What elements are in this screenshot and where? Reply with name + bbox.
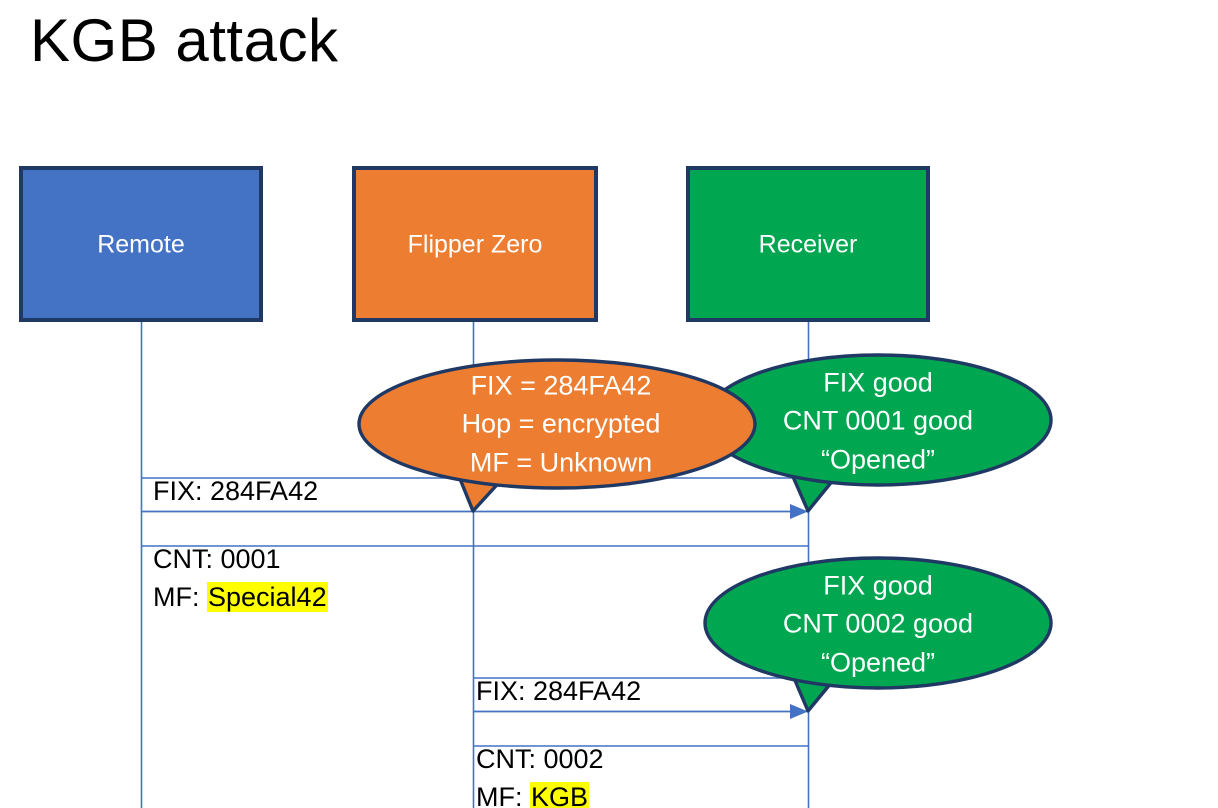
message-1-fix-line: FIX: 284FA42 bbox=[153, 472, 318, 510]
receiver-callout-1-line-2: CNT 0001 good bbox=[783, 402, 973, 440]
actor-label-flipper: Flipper Zero bbox=[408, 231, 543, 260]
receiver-callout-2-line-3: “Opened” bbox=[783, 643, 973, 681]
receiver-callout-2-line-2: CNT 0002 good bbox=[783, 605, 973, 643]
flipper-callout-line-2: Hop = encrypted bbox=[462, 405, 661, 443]
receiver-callout-2-text: FIX good CNT 0002 good “Opened” bbox=[783, 567, 973, 682]
message-1-details: CNT: 0001 MF: Special42 bbox=[153, 540, 328, 617]
receiver-callout-1-line-1: FIX good bbox=[783, 364, 973, 402]
flipper-callout-text: FIX = 284FA42 Hop = encrypted MF = Unkno… bbox=[462, 367, 661, 482]
receiver-callout-1-line-3: “Opened” bbox=[783, 440, 973, 478]
receiver-callout-1-text: FIX good CNT 0001 good “Opened” bbox=[783, 364, 973, 479]
flipper-callout-line-1: FIX = 284FA42 bbox=[462, 367, 661, 405]
message-2-mf-prefix: MF: bbox=[476, 782, 530, 808]
flipper-callout-line-3: MF = Unknown bbox=[462, 443, 661, 481]
receiver-callout-2-line-1: FIX good bbox=[783, 567, 973, 605]
message-1-mf-prefix: MF: bbox=[153, 582, 207, 612]
message-1-mf-value: Special42 bbox=[207, 582, 328, 612]
message-2-cnt-line: CNT: 0002 bbox=[476, 740, 604, 778]
message-1-cnt-line: CNT: 0001 bbox=[153, 540, 328, 578]
message-2-mf-line: MF: KGB bbox=[476, 778, 604, 808]
actor-label-remote: Remote bbox=[97, 231, 185, 260]
message-2-mf-value: KGB bbox=[530, 782, 589, 808]
message-2-label: FIX: 284FA42 bbox=[476, 672, 641, 710]
message-2-details: CNT: 0002 MF: KGB bbox=[476, 740, 604, 808]
message-1-label: FIX: 284FA42 bbox=[153, 472, 318, 510]
message-1-mf-line: MF: Special42 bbox=[153, 578, 328, 616]
message-2-fix-line: FIX: 284FA42 bbox=[476, 672, 641, 710]
slide-canvas: KGB attack bbox=[0, 0, 1218, 808]
actor-label-receiver: Receiver bbox=[759, 231, 858, 260]
